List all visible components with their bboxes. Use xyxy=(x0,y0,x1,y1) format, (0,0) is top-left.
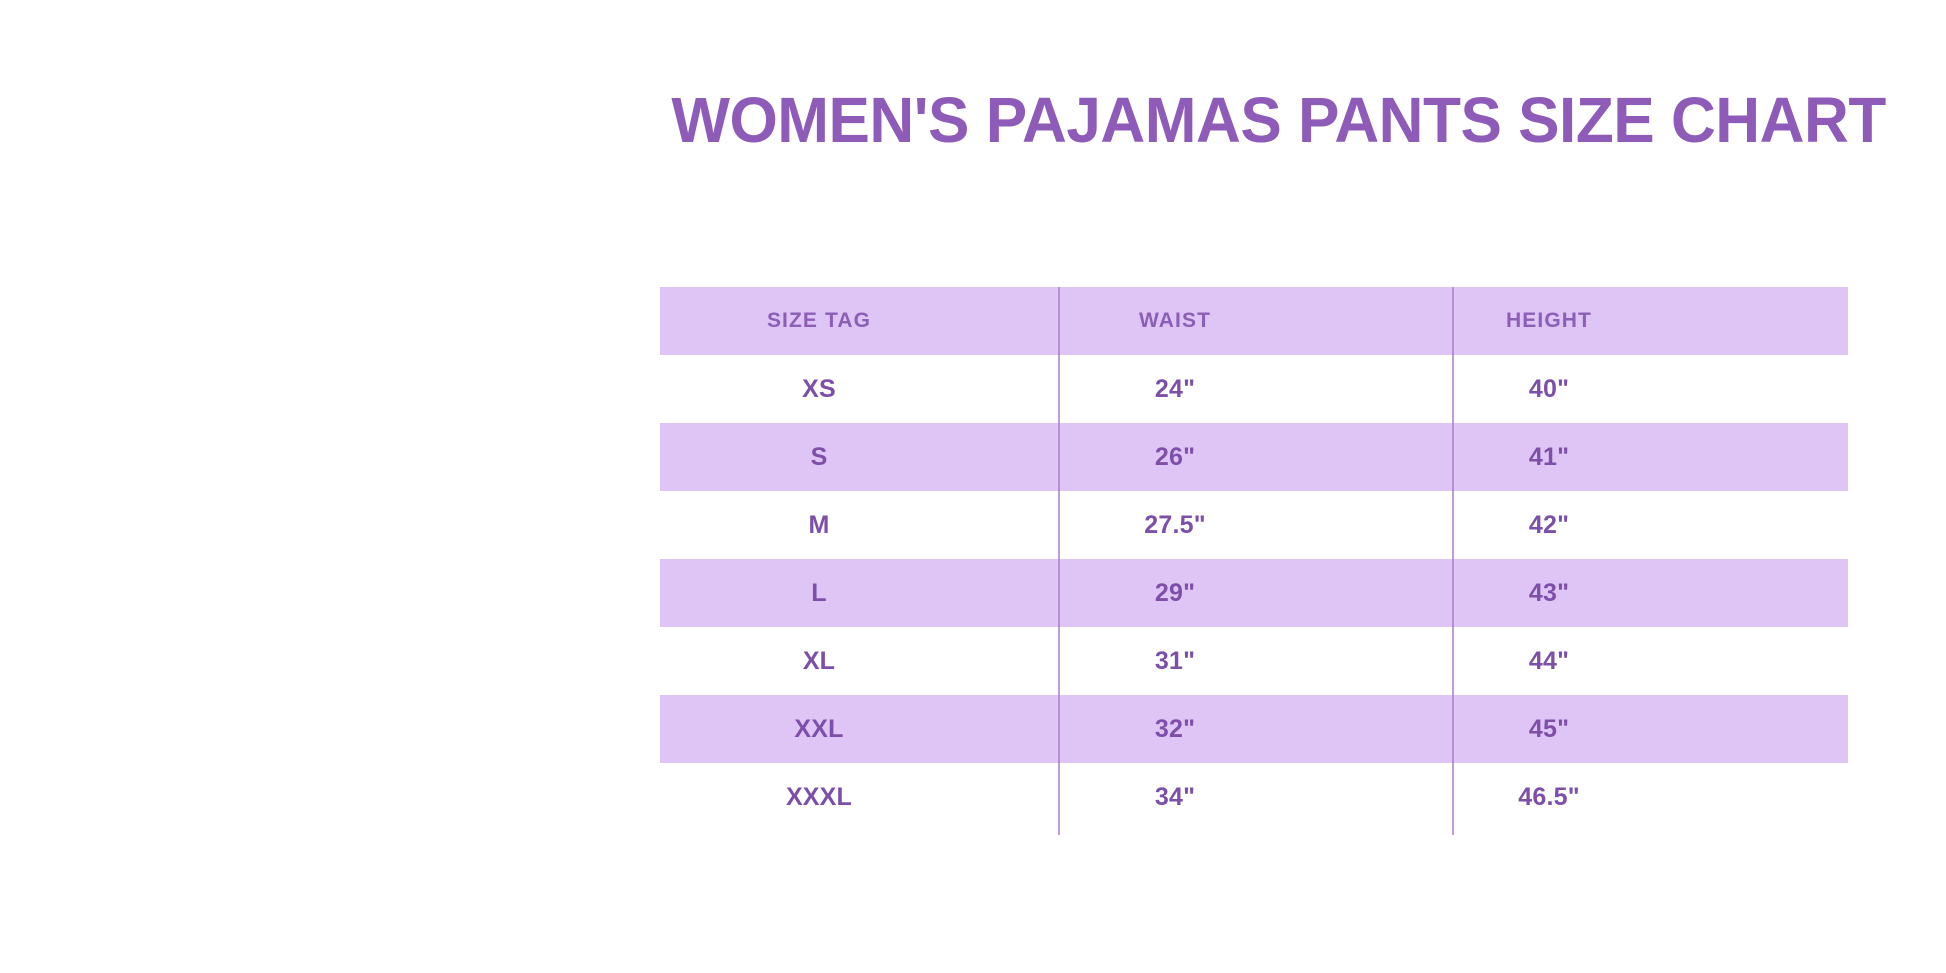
table-cell-waist: 32" xyxy=(978,695,1372,763)
column-header-waist: WAIST xyxy=(978,287,1372,355)
table-cell-waist: 24" xyxy=(978,355,1372,423)
table-cell-waist: 29" xyxy=(978,559,1372,627)
table-cell-height: 40" xyxy=(1372,355,1848,423)
table-cell-waist: 27.5" xyxy=(978,491,1372,559)
table-cell-size-tag: S xyxy=(660,423,978,491)
table-cell-size-tag: XL xyxy=(660,627,978,695)
table-cell-size-tag: M xyxy=(660,491,978,559)
size-chart-page: WOMEN'S PAJAMAS PANTS SIZE CHART SIZE TA… xyxy=(0,0,1946,973)
table-cell-size-tag: L xyxy=(660,559,978,627)
size-chart-table: SIZE TAG WAIST HEIGHT XS24"40"S26"41"M27… xyxy=(660,287,1848,831)
page-title: WOMEN'S PAJAMAS PANTS SIZE CHART xyxy=(29,84,1917,156)
table-cell-height: 45" xyxy=(1372,695,1848,763)
table-header: SIZE TAG WAIST HEIGHT xyxy=(660,287,1848,355)
size-chart-table-container: SIZE TAG WAIST HEIGHT XS24"40"S26"41"M27… xyxy=(660,287,1848,831)
table-header-row: SIZE TAG WAIST HEIGHT xyxy=(660,287,1848,355)
table-cell-waist: 31" xyxy=(978,627,1372,695)
table-body: XS24"40"S26"41"M27.5"42"L29"43"XL31"44"X… xyxy=(660,355,1848,831)
table-row: L29"43" xyxy=(660,559,1848,627)
table-cell-height: 42" xyxy=(1372,491,1848,559)
column-divider-line-2 xyxy=(1452,287,1454,835)
table-cell-waist: 34" xyxy=(978,763,1372,831)
table-cell-height: 46.5" xyxy=(1372,763,1848,831)
table-cell-waist: 26" xyxy=(978,423,1372,491)
table-row: XXXL34"46.5" xyxy=(660,763,1848,831)
table-row: XL31"44" xyxy=(660,627,1848,695)
table-cell-height: 41" xyxy=(1372,423,1848,491)
table-cell-height: 44" xyxy=(1372,627,1848,695)
column-header-height: HEIGHT xyxy=(1372,287,1848,355)
table-cell-height: 43" xyxy=(1372,559,1848,627)
table-row: XXL32"45" xyxy=(660,695,1848,763)
table-cell-size-tag: XXXL xyxy=(660,763,978,831)
column-divider-line-1 xyxy=(1058,287,1060,835)
column-header-size-tag: SIZE TAG xyxy=(660,287,978,355)
table-row: XS24"40" xyxy=(660,355,1848,423)
table-cell-size-tag: XS xyxy=(660,355,978,423)
table-cell-size-tag: XXL xyxy=(660,695,978,763)
table-row: S26"41" xyxy=(660,423,1848,491)
table-row: M27.5"42" xyxy=(660,491,1848,559)
